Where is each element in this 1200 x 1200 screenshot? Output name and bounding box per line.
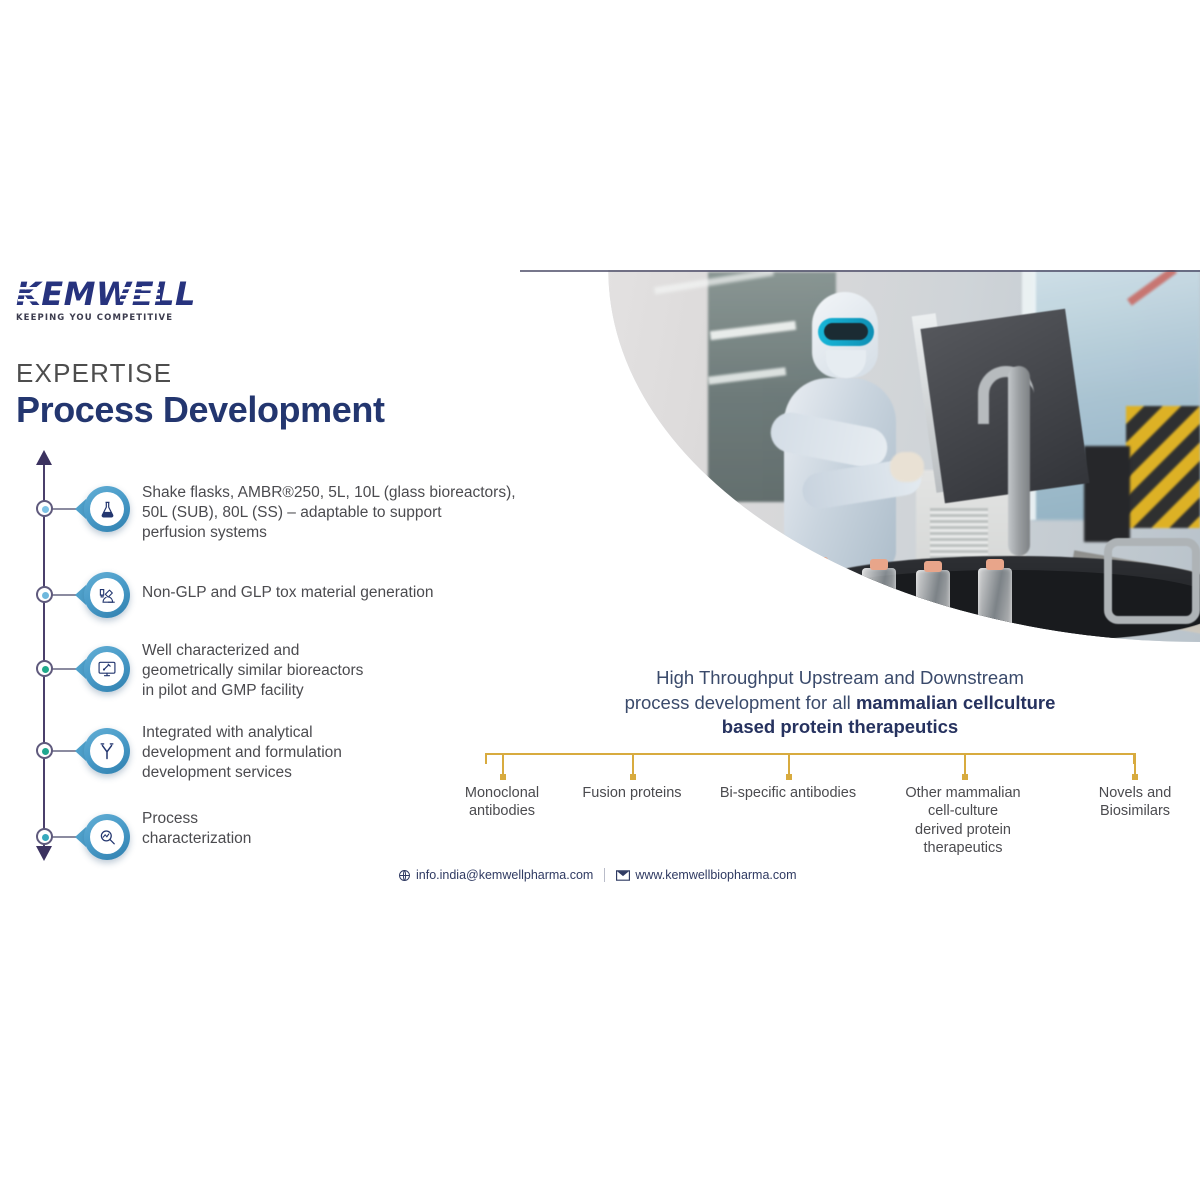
eyebrow-label: EXPERTISE	[16, 358, 172, 389]
timeline-icon-pin[interactable]	[84, 814, 130, 860]
timeline-icon-pin[interactable]	[84, 728, 130, 774]
branch-label[interactable]: Other mammalian cell-culture derived pro…	[888, 784, 1038, 858]
logo-tagline: KEEPING YOU COMPETITIVE	[16, 313, 336, 323]
logo-wordmark-text: KEMWELL	[16, 275, 196, 313]
microscope-icon	[90, 578, 124, 612]
contact-footer: info.india@kemwellpharma.com www.kemwell…	[398, 868, 797, 882]
branch-horizontal-line	[485, 753, 1135, 755]
branch-tick	[632, 753, 634, 775]
heading-bold-1: mammalian cellculture	[856, 692, 1055, 713]
branch-label[interactable]: Novels and Biosimilars	[1074, 784, 1196, 821]
footer-email[interactable]: info.india@kemwellpharma.com	[398, 868, 593, 882]
timeline-item-text: Well characterized and geometrically sim…	[142, 641, 522, 700]
timeline-icon-pin[interactable]	[84, 646, 130, 692]
hero-photo	[512, 270, 1200, 642]
monitor-tools-icon	[90, 652, 124, 686]
branch-label[interactable]: Bi-specific antibodies	[698, 784, 878, 802]
timeline-icon-pin[interactable]	[84, 572, 130, 618]
timeline-node-dot	[36, 742, 53, 759]
branch-marker	[1132, 774, 1138, 780]
branch-marker	[500, 774, 506, 780]
page-title: Process Development	[16, 389, 385, 431]
timeline-arrow-down-icon	[36, 846, 52, 861]
timeline-item-text: Non-GLP and GLP tox material generation	[142, 583, 522, 603]
branch-marker	[630, 774, 636, 780]
timeline-icon-pin[interactable]	[84, 486, 130, 532]
timeline-node-dot	[36, 500, 53, 517]
timeline-arrow-up-icon	[36, 450, 52, 465]
globe-icon	[398, 869, 411, 882]
heading-line-1: High Throughput Upstream and Downstream	[656, 667, 1024, 688]
photo-top-rule	[520, 270, 1200, 272]
envelope-icon	[616, 870, 630, 881]
timeline-node-dot	[36, 586, 53, 603]
antibody-icon	[90, 734, 124, 768]
footer-email-text: info.india@kemwellpharma.com	[416, 868, 593, 882]
footer-website[interactable]: www.kemwellbiopharma.com	[616, 868, 796, 882]
branch-label[interactable]: Fusion proteins	[562, 784, 702, 802]
slide-canvas: KEMWELL KEEPING YOU COMPETITIVE EXPERTIS…	[0, 0, 1200, 1200]
branch-marker	[786, 774, 792, 780]
branch-tick	[964, 753, 966, 775]
flask-icon	[90, 492, 124, 526]
branch-left-cap	[485, 753, 487, 764]
right-panel-heading: High Throughput Upstream and Downstream …	[560, 666, 1120, 740]
branch-tick	[502, 753, 504, 775]
product-branch-diagram: Monoclonal antibodies Fusion proteins Bi…	[440, 748, 1200, 868]
hero-photo-clip	[512, 270, 1200, 642]
footer-divider	[604, 868, 605, 882]
branch-tick	[1134, 753, 1136, 775]
timeline-node-dot	[36, 660, 53, 677]
analysis-magnifier-icon	[90, 820, 124, 854]
branch-label[interactable]: Monoclonal antibodies	[440, 784, 564, 821]
kemwell-logo: KEMWELL KEEPING YOU COMPETITIVE	[16, 278, 336, 323]
timeline-node-dot	[36, 828, 53, 845]
branch-marker	[962, 774, 968, 780]
heading-line-2: process development for all	[625, 692, 856, 713]
heading-bold-2: based protein therapeutics	[722, 716, 958, 737]
branch-tick	[788, 753, 790, 775]
logo-wordmark: KEMWELL	[16, 278, 196, 310]
timeline-item-text: Shake flasks, AMBR®250, 5L, 10L (glass b…	[142, 483, 532, 542]
footer-website-text: www.kemwellbiopharma.com	[635, 868, 796, 882]
